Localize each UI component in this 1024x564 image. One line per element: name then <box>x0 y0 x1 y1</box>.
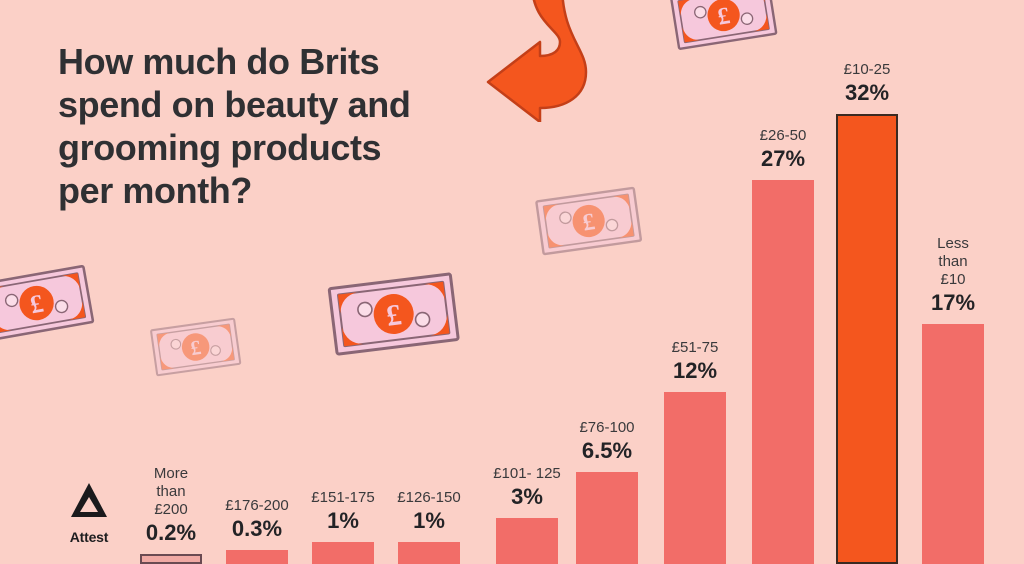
bar-101-125-value: 3% <box>493 484 561 510</box>
bar-76-100[interactable]: £76-1006.5% <box>576 472 638 564</box>
bar-76-100-category: £76-100 <box>579 419 634 437</box>
attest-logo: Attest <box>54 478 124 545</box>
bar-less-than-10-label: Less than £1017% <box>931 235 975 316</box>
attest-triangle-icon <box>54 478 124 527</box>
infographic-canvas: £££££ How much do Brits spend on beauty … <box>0 0 1024 564</box>
bar-76-100-label: £76-1006.5% <box>579 419 634 464</box>
bar-76-100-value: 6.5% <box>579 438 634 464</box>
bar-126-150-value: 1% <box>397 508 460 534</box>
bar-more-than-200-rect <box>140 554 202 564</box>
bar-101-125-label: £101- 1253% <box>493 465 561 510</box>
bar-51-75-value: 12% <box>672 358 719 384</box>
bar-more-than-200-category: More than £200 <box>146 465 196 519</box>
bar-151-175-value: 1% <box>311 508 374 534</box>
bar-126-150-rect <box>398 542 460 564</box>
bar-51-75-rect <box>664 392 726 564</box>
bar-126-150-category: £126-150 <box>397 489 460 507</box>
bar-10-25-value: 32% <box>844 80 891 106</box>
bar-176-200-rect <box>226 550 288 564</box>
bar-more-than-200[interactable]: More than £2000.2% <box>140 554 202 564</box>
bar-10-25[interactable]: £10-2532% <box>836 114 898 564</box>
bar-more-than-200-label: More than £2000.2% <box>146 465 196 546</box>
bar-151-175-rect <box>312 542 374 564</box>
bar-26-50-value: 27% <box>760 146 807 172</box>
bar-26-50-category: £26-50 <box>760 127 807 145</box>
bar-26-50-rect <box>752 180 814 564</box>
bar-10-25-label: £10-2532% <box>844 61 891 106</box>
bar-more-than-200-value: 0.2% <box>146 520 196 546</box>
bar-176-200-value: 0.3% <box>225 516 288 542</box>
bar-less-than-10-value: 17% <box>931 290 975 316</box>
bar-76-100-rect <box>576 472 638 564</box>
bar-51-75-label: £51-7512% <box>672 339 719 384</box>
bar-26-50[interactable]: £26-5027% <box>752 180 814 564</box>
bar-101-125-category: £101- 125 <box>493 465 561 483</box>
bar-151-175-category: £151-175 <box>311 489 374 507</box>
bar-10-25-rect <box>836 114 898 564</box>
bar-51-75-category: £51-75 <box>672 339 719 357</box>
bar-10-25-category: £10-25 <box>844 61 891 79</box>
bar-less-than-10[interactable]: Less than £1017% <box>922 324 984 564</box>
bar-126-150[interactable]: £126-1501% <box>398 542 460 564</box>
bar-less-than-10-category: Less than £10 <box>931 235 975 289</box>
bar-176-200[interactable]: £176-2000.3% <box>226 550 288 564</box>
bar-176-200-label: £176-2000.3% <box>225 497 288 542</box>
bar-176-200-category: £176-200 <box>225 497 288 515</box>
bar-less-than-10-rect <box>922 324 984 564</box>
page-title: How much do Brits spend on beauty and gr… <box>58 40 478 212</box>
bar-126-150-label: £126-1501% <box>397 489 460 534</box>
bar-101-125[interactable]: £101- 1253% <box>496 518 558 564</box>
bar-51-75[interactable]: £51-7512% <box>664 392 726 564</box>
bar-101-125-rect <box>496 518 558 564</box>
bar-26-50-label: £26-5027% <box>760 127 807 172</box>
attest-wordmark: Attest <box>54 529 124 545</box>
bar-151-175[interactable]: £151-1751% <box>312 542 374 564</box>
bar-151-175-label: £151-1751% <box>311 489 374 534</box>
